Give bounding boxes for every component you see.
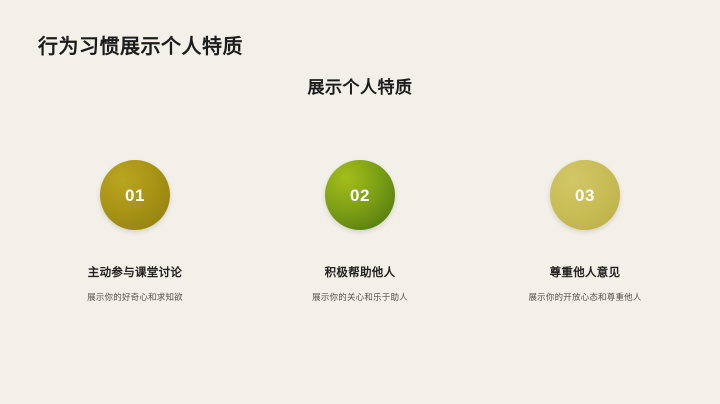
trait-circle-1: 01 xyxy=(100,160,170,230)
page-title: 行为习惯展示个人特质 xyxy=(38,30,243,59)
trait-description-1: 展示你的好奇心和求知欲 xyxy=(87,291,183,303)
trait-card-1[interactable]: 01 主动参与课堂讨论 展示你的好奇心和求知欲 xyxy=(23,160,248,303)
trait-number-3: 03 xyxy=(575,187,595,204)
trait-description-3: 展示你的开放心态和尊重他人 xyxy=(528,291,641,303)
section-subtitle: 展示个人特质 xyxy=(0,73,720,98)
trait-description-2: 展示你的关心和乐于助人 xyxy=(312,291,408,303)
trait-circle-2: 02 xyxy=(325,160,395,230)
trait-circle-3: 03 xyxy=(550,160,620,230)
trait-card-3[interactable]: 03 尊重他人意见 展示你的开放心态和尊重他人 xyxy=(473,160,698,303)
trait-number-2: 02 xyxy=(350,187,370,204)
slide-canvas: 行为习惯展示个人特质 展示个人特质 01 主动参与课堂讨论 展示你的好奇心和求知… xyxy=(0,0,720,404)
trait-card-list: 01 主动参与课堂讨论 展示你的好奇心和求知欲 02 积极帮助他人 展示你的关心… xyxy=(0,160,720,303)
trait-title-2: 积极帮助他人 xyxy=(325,264,396,280)
trait-number-1: 01 xyxy=(125,187,145,204)
trait-title-1: 主动参与课堂讨论 xyxy=(88,264,182,280)
trait-title-3: 尊重他人意见 xyxy=(550,264,621,280)
trait-card-2[interactable]: 02 积极帮助他人 展示你的关心和乐于助人 xyxy=(248,160,473,303)
